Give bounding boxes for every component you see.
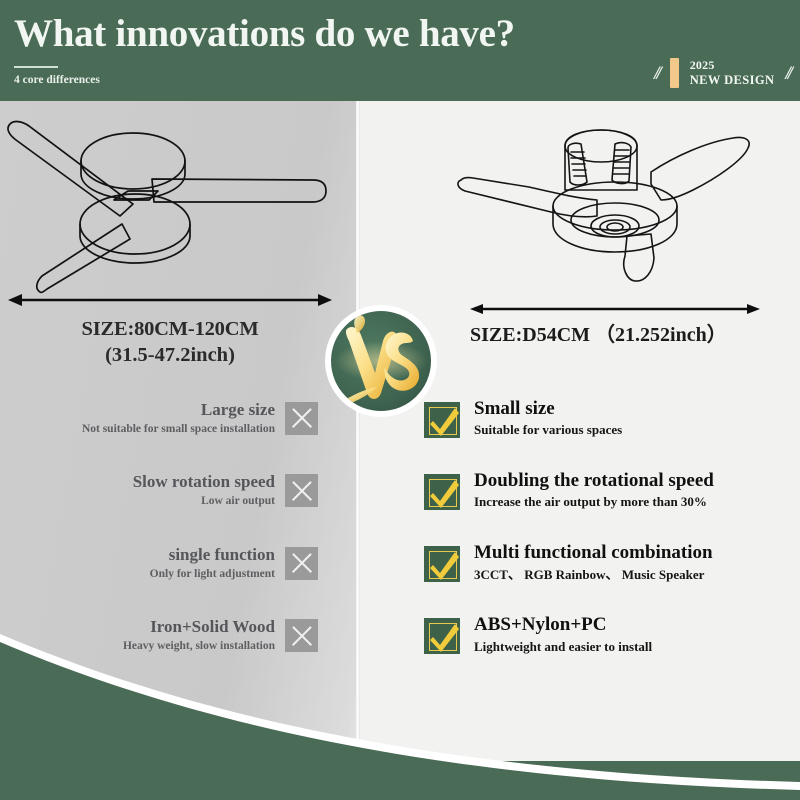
pro-text: Doubling the rotational speed Increase t… xyxy=(474,470,714,511)
right-size-label: SIZE:D54CM （21.252inch） xyxy=(470,318,727,347)
pro-text: Multi functional combination 3CCT、 RGB R… xyxy=(474,542,713,583)
pro-sub: Suitable for various spaces xyxy=(474,422,622,439)
list-item: Multi functional combination 3CCT、 RGB R… xyxy=(424,542,800,583)
cross-icon xyxy=(285,547,318,580)
accent-bar-icon xyxy=(670,58,679,88)
new-design-badge: // 2025 NEW DESIGN // xyxy=(654,58,790,88)
left-dimension-arrow-icon xyxy=(8,292,332,308)
pros-list: Small size Suitable for various spaces D… xyxy=(424,398,800,687)
con-title: Large size xyxy=(82,400,275,420)
cross-icon xyxy=(285,474,318,507)
list-item: ABS+Nylon+PC Lightweight and easier to i… xyxy=(424,614,800,655)
list-item: Slow rotation speed Low air output xyxy=(0,472,340,508)
con-text: Iron+Solid Wood Heavy weight, slow insta… xyxy=(123,617,275,653)
versus-badge xyxy=(325,305,437,417)
con-sub: Low air output xyxy=(133,494,275,509)
title-underline xyxy=(14,66,58,68)
panel-divider xyxy=(356,101,360,761)
con-title: single function xyxy=(150,545,275,565)
badge-year: 2025 xyxy=(690,59,775,73)
check-icon-mark xyxy=(426,402,460,438)
header-bar: What innovations do we have? 4 core diff… xyxy=(0,0,800,101)
slash-right-icon: // xyxy=(785,64,790,83)
cross-icon xyxy=(285,402,318,435)
con-text: Slow rotation speed Low air output xyxy=(133,472,275,508)
check-icon xyxy=(424,546,460,582)
list-item: Large size Not suitable for small space … xyxy=(0,400,340,436)
right-dimension-arrow-icon xyxy=(470,302,760,316)
low-profile-ceiling-fan-illustration xyxy=(455,128,765,288)
badge-text: 2025 NEW DESIGN xyxy=(690,59,775,87)
left-size-line-2: (31.5-47.2inch) xyxy=(0,342,340,368)
check-icon xyxy=(424,402,460,438)
left-size-label: SIZE:80CM-120CM (31.5-47.2inch) xyxy=(0,316,340,368)
check-icon-mark xyxy=(426,474,460,510)
list-item: Doubling the rotational speed Increase t… xyxy=(424,470,800,511)
comparison-infographic: What innovations do we have? 4 core diff… xyxy=(0,0,800,800)
left-size-line-1: SIZE:80CM-120CM xyxy=(0,316,340,342)
cons-list: Large size Not suitable for small space … xyxy=(0,400,340,690)
pro-sub: Lightweight and easier to install xyxy=(474,639,652,656)
list-item: Small size Suitable for various spaces xyxy=(424,398,800,439)
check-icon-mark xyxy=(426,546,460,582)
slash-left-icon: // xyxy=(654,64,659,83)
large-ceiling-fan-illustration xyxy=(2,112,342,302)
con-title: Slow rotation speed xyxy=(133,472,275,492)
pro-text: ABS+Nylon+PC Lightweight and easier to i… xyxy=(474,614,652,655)
pro-title: ABS+Nylon+PC xyxy=(474,614,652,635)
con-title: Iron+Solid Wood xyxy=(123,617,275,637)
page-subtitle: 4 core differences xyxy=(14,74,100,86)
con-sub: Not suitable for small space installatio… xyxy=(82,422,275,437)
cross-icon xyxy=(285,619,318,652)
page-title: What innovations do we have? xyxy=(14,11,515,56)
badge-tagline: NEW DESIGN xyxy=(690,73,775,87)
list-item: single function Only for light adjustmen… xyxy=(0,545,340,581)
versus-badge-circle xyxy=(331,311,431,411)
pro-title: Small size xyxy=(474,398,622,419)
check-icon xyxy=(424,618,460,654)
con-text: single function Only for light adjustmen… xyxy=(150,545,275,581)
pro-sub: Increase the air output by more than 30% xyxy=(474,494,714,511)
pro-sub: 3CCT、 RGB Rainbow、 Music Speaker xyxy=(474,567,713,584)
pro-title: Multi functional combination xyxy=(474,542,713,563)
check-icon xyxy=(424,474,460,510)
pro-text: Small size Suitable for various spaces xyxy=(474,398,622,439)
check-icon-mark xyxy=(426,618,460,654)
con-text: Large size Not suitable for small space … xyxy=(82,400,275,436)
con-sub: Only for light adjustment xyxy=(150,567,275,582)
con-sub: Heavy weight, slow installation xyxy=(123,639,275,654)
list-item: Iron+Solid Wood Heavy weight, slow insta… xyxy=(0,617,340,653)
versus-flame-icon xyxy=(331,311,431,411)
pro-title: Doubling the rotational speed xyxy=(474,470,714,491)
